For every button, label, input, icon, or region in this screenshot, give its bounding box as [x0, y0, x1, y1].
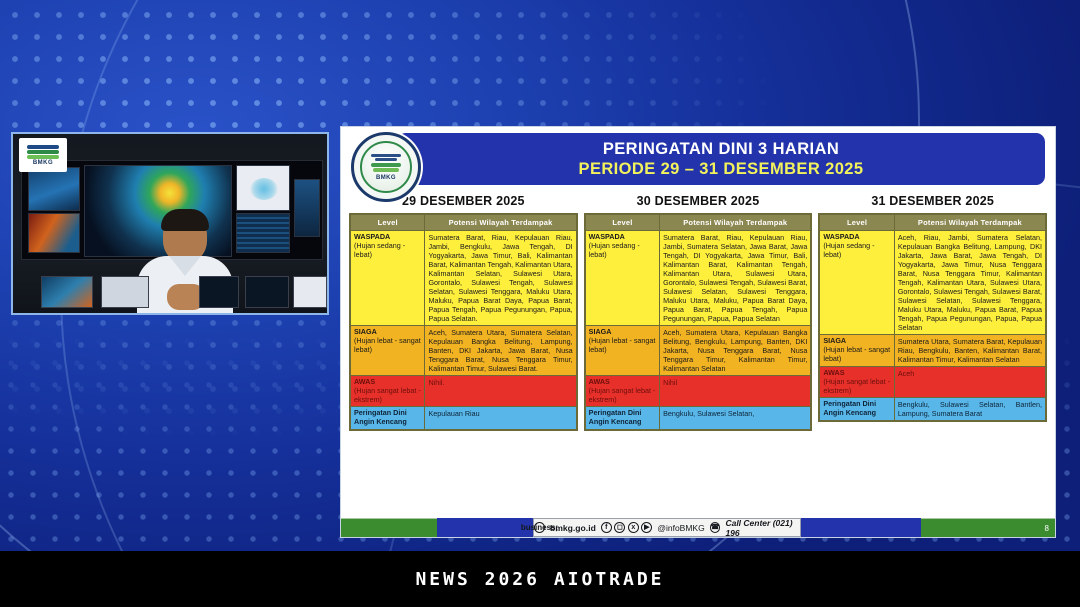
col3-level-waspada-name: WASPADA — [823, 232, 859, 241]
desk-monitor-2 — [101, 276, 149, 308]
col3-regions-awas: Aceh — [894, 367, 1045, 398]
slide-title-bar: PERINGATAN DINI 3 HARIAN PERIODE 29 – 31… — [397, 133, 1045, 185]
bmkg-watermark-logo: BMKG — [19, 138, 67, 172]
logo-wave-2 — [375, 158, 397, 161]
col2-regions-waspada: Sumatera Barat, Riau, Kepulauan Riau, Ja… — [660, 231, 811, 326]
col3-regions-angin: Bengkulu, Sulawesi Selatan, Bantlen, Lam… — [894, 398, 1045, 421]
day-heading-2: 30 DESEMBER 2025 — [584, 194, 813, 208]
col3-level-angin-name: Peringatan Dini Angin Kencang — [823, 399, 876, 417]
col2-regions-angin: Bengkulu, Sulawesi Selatan, — [660, 407, 811, 430]
wall-screen-map-left — [28, 167, 80, 211]
footer-green-block-left — [341, 518, 437, 537]
col2-level-siaga: SIAGA (Hujan lebat - sangat lebat) — [585, 326, 659, 376]
desk-monitor-1 — [41, 276, 93, 308]
col3-regions-waspada: Aceh, Riau, Jambi, Sumatera Selatan, Kep… — [894, 231, 1045, 335]
col3-level-waspada: WASPADA (Hujan sedang - lebat) — [820, 231, 894, 335]
col2-level-awas-name: AWAS — [589, 377, 610, 386]
col3-level-siaga-name: SIAGA — [823, 336, 846, 345]
warning-table-31-desember: Level Potensi Wilayah Terdampak WASPADA … — [818, 213, 1047, 422]
col2-level-siaga-name: SIAGA — [589, 327, 612, 336]
col3-level-waspada-sub: (Hujan sedang - lebat) — [823, 242, 890, 260]
col1-level-awas-sub: (Hujan sangat lebat - ekstrem) — [354, 387, 421, 405]
col3-level-siaga-sub: (Hujan lebat - sangat lebat) — [823, 346, 890, 364]
footer-page-number: 8 — [921, 518, 1055, 537]
table-row: WASPADA (Hujan sedang - lebat) Sumatera … — [351, 231, 577, 326]
logo-wave-1 — [371, 154, 401, 157]
table-row: SIAGA (Hujan lebat - sangat lebat) Aceh,… — [351, 326, 577, 376]
logo-band-light-green — [27, 155, 59, 159]
facebook-icon[interactable]: f — [601, 522, 612, 533]
footer-call-center: Call Center (021) 196 — [725, 518, 800, 538]
col1-header-region: Potensi Wilayah Terdampak — [425, 215, 576, 231]
x-twitter-icon[interactable]: x — [628, 522, 639, 533]
logo-green-1 — [371, 163, 401, 167]
table-header-row: Level Potensi Wilayah Terdampak — [820, 215, 1046, 231]
col1-level-angin: Peringatan Dini Angin Kencang — [351, 407, 425, 430]
bmkg-logo-label: BMKG — [376, 175, 396, 181]
footer-social-handle: @infoBMKG — [657, 523, 704, 533]
footer-blue-block-right — [801, 518, 921, 537]
col1-level-siaga: SIAGA (Hujan lebat - sangat lebat) — [351, 326, 425, 376]
footer-contact-bar: business; bmkg.go.id f ◻ x ▶ @infoBMKG ☎… — [533, 518, 801, 537]
col1-level-waspada: WASPADA (Hujan sedang - lebat) — [351, 231, 425, 326]
col1-level-awas-name: AWAS — [354, 377, 375, 386]
logo-band-blue — [27, 145, 59, 149]
wall-screen-chart-right — [236, 165, 290, 211]
table-row: Peringatan Dini Angin Kencang Bengkulu, … — [820, 398, 1046, 421]
col3-level-awas-sub: (Hujan sangat lebat - ekstrem) — [823, 378, 890, 396]
slide-title-line1: PERINGATAN DINI 3 HARIAN — [603, 140, 839, 159]
col1-level-awas: AWAS (Hujan sangat lebat - ekstrem) — [351, 376, 425, 407]
col2-header-level: Level — [585, 215, 659, 231]
table-header-row: Level Potensi Wilayah Terdampak — [351, 215, 577, 231]
col2-header-region: Potensi Wilayah Terdampak — [660, 215, 811, 231]
col1-level-waspada-name: WASPADA — [354, 232, 390, 241]
wall-screen-data-right — [236, 213, 290, 253]
youtube-icon[interactable]: ▶ — [641, 522, 652, 533]
wall-screen-side-right — [294, 179, 320, 237]
caption-text: NEWS 2026 AIOTRADE — [415, 569, 664, 590]
table-row: SIAGA (Hujan lebat - sangat lebat) Aceh,… — [585, 326, 811, 376]
instagram-icon[interactable]: ◻ — [614, 522, 625, 533]
col2-level-awas-sub: (Hujan sangat lebat - ekstrem) — [589, 387, 656, 405]
footer-blue-block-left — [437, 518, 533, 537]
table-header-row: Level Potensi Wilayah Terdampak — [585, 215, 811, 231]
slide-title-line2: PERIODE 29 – 31 DESEMBER 2025 — [579, 160, 864, 179]
social-icons-group: f ◻ x ▶ — [601, 522, 653, 533]
col1-level-angin-name: Peringatan Dini Angin Kencang — [354, 408, 407, 426]
slide-footer: business; bmkg.go.id f ◻ x ▶ @infoBMKG ☎… — [341, 518, 1055, 537]
col3-level-awas: AWAS (Hujan sangat lebat - ekstrem) — [820, 367, 894, 398]
col2-level-siaga-sub: (Hujan lebat - sangat lebat) — [589, 337, 656, 355]
table-row: WASPADA (Hujan sedang - lebat) Aceh, Ria… — [820, 231, 1046, 335]
presenter-hair — [161, 209, 209, 231]
col1-header-level: Level — [351, 215, 425, 231]
table-row: AWAS (Hujan sangat lebat - ekstrem) Nihi… — [351, 376, 577, 407]
col3-level-awas-name: AWAS — [823, 368, 844, 377]
warning-table-29-desember: Level Potensi Wilayah Terdampak WASPADA … — [349, 213, 578, 431]
desk-monitor-3 — [199, 276, 239, 308]
warning-table-30-desember: Level Potensi Wilayah Terdampak WASPADA … — [584, 213, 813, 431]
col1-level-siaga-name: SIAGA — [354, 327, 377, 336]
col2-level-angin-name: Peringatan Dini Angin Kencang — [589, 408, 642, 426]
col2-level-awas: AWAS (Hujan sangat lebat - ekstrem) — [585, 376, 659, 407]
col2-level-waspada-name: WASPADA — [589, 232, 625, 241]
col3-level-siaga: SIAGA (Hujan lebat - sangat lebat) — [820, 335, 894, 367]
col1-level-siaga-sub: (Hujan lebat - sangat lebat) — [354, 337, 421, 355]
logo-green-2 — [373, 168, 399, 172]
table-row: SIAGA (Hujan lebat - sangat lebat) Sumat… — [820, 335, 1046, 367]
globe-icon: business; — [534, 522, 545, 533]
col3-level-angin: Peringatan Dini Angin Kencang — [820, 398, 894, 421]
day-heading-3: 31 DESEMBER 2025 — [818, 194, 1047, 208]
col2-regions-siaga: Aceh, Sumatera Utara, Kepulauan Bangka B… — [660, 326, 811, 376]
col1-regions-angin: Kepulauan Riau — [425, 407, 576, 430]
warning-tables-row: Level Potensi Wilayah Terdampak WASPADA … — [341, 208, 1055, 431]
table-row: AWAS (Hujan sangat lebat - ekstrem) Aceh — [820, 367, 1046, 398]
col2-level-angin: Peringatan Dini Angin Kencang — [585, 407, 659, 430]
slide-header: BMKG PERINGATAN DINI 3 HARIAN PERIODE 29… — [341, 127, 1055, 189]
col2-level-waspada-sub: (Hujan sedang - lebat) — [589, 242, 656, 260]
col1-regions-waspada: Sumatera Barat, Riau, Kepulauan Riau, Ja… — [425, 231, 576, 326]
desk-monitor-5 — [293, 276, 327, 308]
desk-monitor-row — [21, 272, 323, 314]
webcam-video-panel[interactable]: BMKG BMKG — [11, 132, 329, 315]
webcam-logo-text: BMKG — [33, 160, 53, 166]
table-row: Peringatan Dini Angin Kencang Bengkulu, … — [585, 407, 811, 430]
table-row: AWAS (Hujan sangat lebat - ekstrem) Nihi… — [585, 376, 811, 407]
col1-regions-awas: Nihil. — [425, 376, 576, 407]
phone-icon: ☎ — [710, 522, 721, 533]
table-row: WASPADA (Hujan sedang - lebat) Sumatera … — [585, 231, 811, 326]
col3-regions-siaga: Sumatera Utara, Sumatera Barat, Kepulaua… — [894, 335, 1045, 367]
table-row: Peringatan Dini Angin Kencang Kepulauan … — [351, 407, 577, 430]
col2-level-waspada: WASPADA (Hujan sedang - lebat) — [585, 231, 659, 326]
presentation-slide: BMKG PERINGATAN DINI 3 HARIAN PERIODE 29… — [340, 126, 1056, 538]
col1-regions-siaga: Aceh, Sumatera Utara, Sumatera Selatan, … — [425, 326, 576, 376]
screen: BMKG BMKG — [0, 0, 1080, 607]
day-headings-row: 29 DESEMBER 2025 30 DESEMBER 2025 31 DES… — [341, 194, 1055, 208]
col3-header-level: Level — [820, 215, 894, 231]
caption-bar: NEWS 2026 AIOTRADE — [0, 551, 1080, 607]
bmkg-logo-inner: BMKG — [360, 141, 412, 193]
logo-band-green — [27, 150, 59, 154]
col1-level-waspada-sub: (Hujan sedang - lebat) — [354, 242, 421, 260]
footer-website[interactable]: bmkg.go.id — [550, 523, 596, 533]
bmkg-logo-icon: BMKG — [351, 132, 421, 202]
desk-monitor-4 — [245, 276, 289, 308]
wall-screen-thermal-left — [28, 213, 80, 253]
col3-header-region: Potensi Wilayah Terdampak — [894, 215, 1045, 231]
col2-regions-awas: Nihil — [660, 376, 811, 407]
